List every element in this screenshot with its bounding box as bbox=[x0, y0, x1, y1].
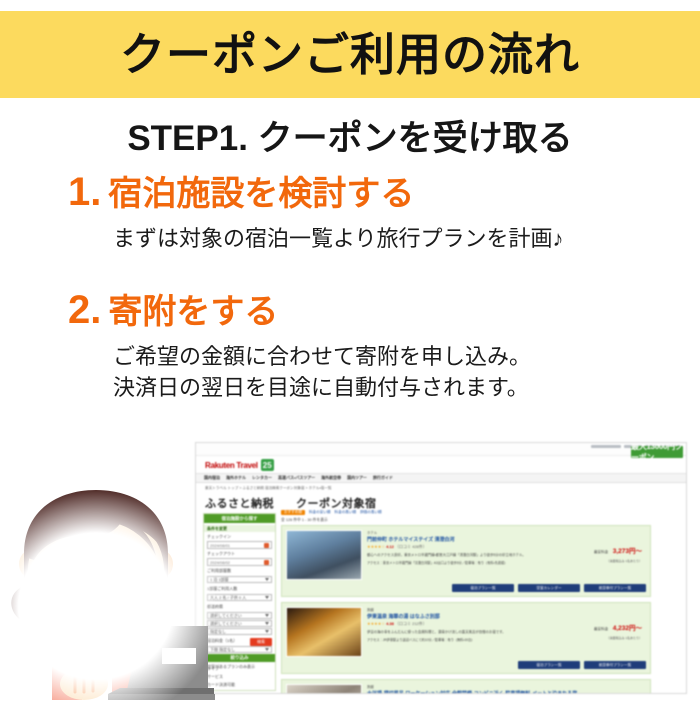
hotel-card[interactable]: 旅館 大浴場・貸切風呂・ワーケーション対応・全館禁煙・コンビニ近く・駐車場無料・… bbox=[281, 679, 651, 694]
step-1-head: 1. 宿泊施設を検討する bbox=[0, 172, 700, 212]
hotel-type-tag: ホテル bbox=[367, 530, 646, 535]
hotel-type-tag: 旅館 bbox=[367, 607, 646, 612]
area-select-3[interactable]: 指定なし bbox=[207, 628, 272, 635]
hotel-type-tag: 旅館 bbox=[367, 684, 646, 689]
sort-link-0[interactable]: 料金の安い順 bbox=[309, 510, 331, 515]
card-row: ホテル 門前仲町 ホテルマイステイズ 清澄白河 ★★★★☆ 4.12 （口コミ … bbox=[286, 530, 646, 580]
price-note: （消費税込み 1名あたり） bbox=[594, 636, 642, 640]
page-title: クーポンご利用の流れ bbox=[120, 32, 580, 77]
search-results: おすすめ順 料金の安い順 料金の高い順 評価の高い順 全 126 件中 1 - … bbox=[281, 509, 651, 694]
star-icons: ★★★★☆ bbox=[367, 544, 385, 549]
price-min-select[interactable]: 下限 指定なし bbox=[207, 646, 272, 653]
woman-with-laptop-illustration bbox=[0, 488, 215, 700]
hotel-name[interactable]: 大浴場・貸切風呂・ワーケーション対応・全館禁煙・コンビニ近く・駐車場無料・ペット… bbox=[367, 690, 646, 694]
sort-link-2[interactable]: 評価の高い順 bbox=[360, 510, 382, 515]
results-count: 全 126 件中 1 - 30 件を表示 bbox=[281, 518, 651, 523]
step-2-line-2: 決済日の翌日を目途に自動付与されます。 bbox=[113, 372, 700, 403]
area-select-1[interactable]: 選択してください bbox=[207, 612, 272, 619]
vacancy-calendar-button[interactable]: 空室カレンダー bbox=[518, 584, 580, 592]
card-row: 旅館 大浴場・貸切風呂・ワーケーション対応・全館禁煙・コンビニ近く・駐車場無料・… bbox=[286, 684, 646, 694]
card-actions: 宿泊プラン一覧 空室カレンダー 航空券付プラン一覧 bbox=[286, 584, 646, 592]
review-score: 4.38 bbox=[386, 621, 394, 626]
chevron-down-icon bbox=[265, 596, 269, 599]
chevron-down-icon bbox=[265, 622, 269, 625]
hotel-thumbnail[interactable] bbox=[286, 607, 362, 657]
sort-link-1[interactable]: 料金の高い順 bbox=[335, 510, 357, 515]
price-value: 4,232円〜 bbox=[613, 625, 642, 632]
step-2-title: 寄附をする bbox=[108, 295, 278, 329]
plan-list-button[interactable]: 宿泊プラン一覧 bbox=[518, 661, 580, 669]
step-1-description: まずは対象の宿泊一覧より旅行プランを計画♪ bbox=[0, 223, 700, 254]
calendar-icon[interactable] bbox=[264, 560, 269, 565]
step-2-number: 2. bbox=[68, 290, 101, 330]
air-plan-button[interactable]: 航空券付プラン一覧 bbox=[584, 584, 646, 592]
step-2-line-1: ご希望の金額に合わせて寄附を申し込み。 bbox=[113, 341, 700, 372]
chevron-down-icon bbox=[265, 648, 269, 651]
hotel-card[interactable]: ホテル 門前仲町 ホテルマイステイズ 清澄白河 ★★★★☆ 4.12 （口コミ … bbox=[281, 525, 651, 597]
coupon-badge[interactable]: 最大13000円クーポン bbox=[631, 446, 683, 458]
review-meta: （口コミ 428件） bbox=[395, 544, 427, 549]
card-main: 旅館 大浴場・貸切風呂・ワーケーション対応・全館禁煙・コンビニ近く・駐車場無料・… bbox=[367, 684, 646, 694]
air-plan-button[interactable]: 航空券付プラン一覧 bbox=[584, 661, 646, 669]
step-2-head: 2. 寄附をする bbox=[0, 290, 700, 330]
breadcrumb: 楽天トラベル トップ > ふるさと納税 宿泊検索クーポン対象宿 > ホテル・宿一… bbox=[205, 486, 331, 491]
price-value: 3,273円〜 bbox=[613, 548, 642, 555]
people-value: 大人 2 名 / 子供 0 人 bbox=[210, 595, 246, 601]
heading-furusato: ふるさと納税 bbox=[205, 495, 274, 511]
browser-top-utility-bar bbox=[196, 443, 686, 456]
price-block: 最安料金 4,232円〜 （消費税込み 1名あたり） bbox=[594, 617, 642, 640]
star-icons: ★★★★☆ bbox=[367, 621, 385, 626]
step-1-number: 1. bbox=[68, 172, 101, 212]
review-score: 4.12 bbox=[386, 544, 394, 549]
plan-list-button[interactable]: 宿泊プラン一覧 bbox=[452, 584, 514, 592]
bottom-composite: 最大13000円クーポン Rakuten Travel 25 国内宿泊 海外ホテ… bbox=[0, 440, 700, 700]
global-nav: 国内宿泊 海外ホテル レンタカー 高速バス・バスツアー 海外航空券 国内ツアー … bbox=[196, 473, 686, 483]
nav-item-0[interactable]: 国内宿泊 bbox=[204, 475, 220, 481]
step-item-2: 2. 寄附をする ご希望の金額に合わせて寄附を申し込み。 決済日の翌日を目途に自… bbox=[0, 290, 700, 403]
nav-item-6[interactable]: 旅行ガイド bbox=[373, 475, 393, 481]
nav-item-1[interactable]: 海外ホテル bbox=[226, 475, 246, 481]
checkin-date-input[interactable]: 2024/08/01 bbox=[207, 541, 272, 549]
hotel-thumbnail[interactable] bbox=[286, 684, 362, 694]
price-label: 最安料金 bbox=[594, 627, 608, 631]
promo-page: クーポンご利用の流れ STEP1. クーポンを受け取る 1. 宿泊施設を検討する… bbox=[0, 0, 700, 700]
sort-active[interactable]: おすすめ順 bbox=[281, 510, 305, 515]
card-actions: 宿泊プラン一覧 航空券付プラン一覧 bbox=[286, 661, 646, 669]
chevron-down-icon bbox=[265, 630, 269, 633]
step-1-title: 宿泊施設を検討する bbox=[108, 177, 414, 211]
area-select-2[interactable]: 選択してください bbox=[207, 620, 272, 627]
checkout-date-input[interactable]: 2024/08/02 bbox=[207, 558, 272, 566]
nav-item-4[interactable]: 海外航空券 bbox=[321, 475, 341, 481]
price-block: 最安料金 3,273円〜 （消費税込み 1名あたり） bbox=[594, 540, 642, 563]
step-item-1: 1. 宿泊施設を検討する まずは対象の宿泊一覧より旅行プランを計画♪ bbox=[0, 172, 700, 254]
step-1-line-1: まずは対象の宿泊一覧より旅行プランを計画♪ bbox=[113, 223, 700, 254]
step-heading: STEP1. クーポンを受け取る bbox=[0, 110, 700, 161]
step-2-description: ご希望の金額に合わせて寄附を申し込み。 決済日の翌日を目途に自動付与されます。 bbox=[0, 341, 700, 403]
calendar-icon[interactable] bbox=[264, 543, 269, 548]
review-meta: （口コミ 212件） bbox=[395, 621, 427, 626]
people-select[interactable]: 大人 2 名 / 子供 0 人 bbox=[207, 594, 272, 601]
price-label: 最安料金 bbox=[594, 550, 608, 554]
sort-bar: おすすめ順 料金の安い順 料金の高い順 評価の高い順 bbox=[281, 509, 651, 516]
nav-item-5[interactable]: 国内ツアー bbox=[347, 475, 367, 481]
nights-select[interactable]: 1 泊 1部屋 bbox=[207, 576, 272, 583]
nav-item-3[interactable]: 高速バス・バスツアー bbox=[278, 475, 315, 481]
chevron-down-icon bbox=[265, 578, 269, 581]
search-button[interactable]: 検索 bbox=[250, 638, 272, 646]
logo-anniversary-badge: 25 bbox=[261, 459, 274, 471]
website-screenshot: 最大13000円クーポン Rakuten Travel 25 国内宿泊 海外ホテ… bbox=[195, 442, 687, 694]
header-banner: クーポンご利用の流れ bbox=[0, 11, 700, 98]
chevron-down-icon bbox=[265, 614, 269, 617]
hotel-card[interactable]: 旅館 伊東温泉 海華の湯 はなふさ別邸 ★★★★☆ 4.38 （口コミ 212件… bbox=[281, 602, 651, 674]
rakuten-travel-logo[interactable]: Rakuten Travel 25 bbox=[205, 459, 274, 471]
card-row: 旅館 伊東温泉 海華の湯 はなふさ別邸 ★★★★☆ 4.38 （口コミ 212件… bbox=[286, 607, 646, 657]
price-note: （消費税込み 1名あたり） bbox=[594, 559, 642, 563]
top-utility-link-1[interactable] bbox=[591, 445, 621, 448]
illustration-backdrop bbox=[0, 488, 215, 700]
hotel-thumbnail[interactable] bbox=[286, 530, 362, 580]
logo-text: Rakuten Travel bbox=[205, 461, 258, 470]
nav-item-2[interactable]: レンタカー bbox=[252, 475, 272, 481]
